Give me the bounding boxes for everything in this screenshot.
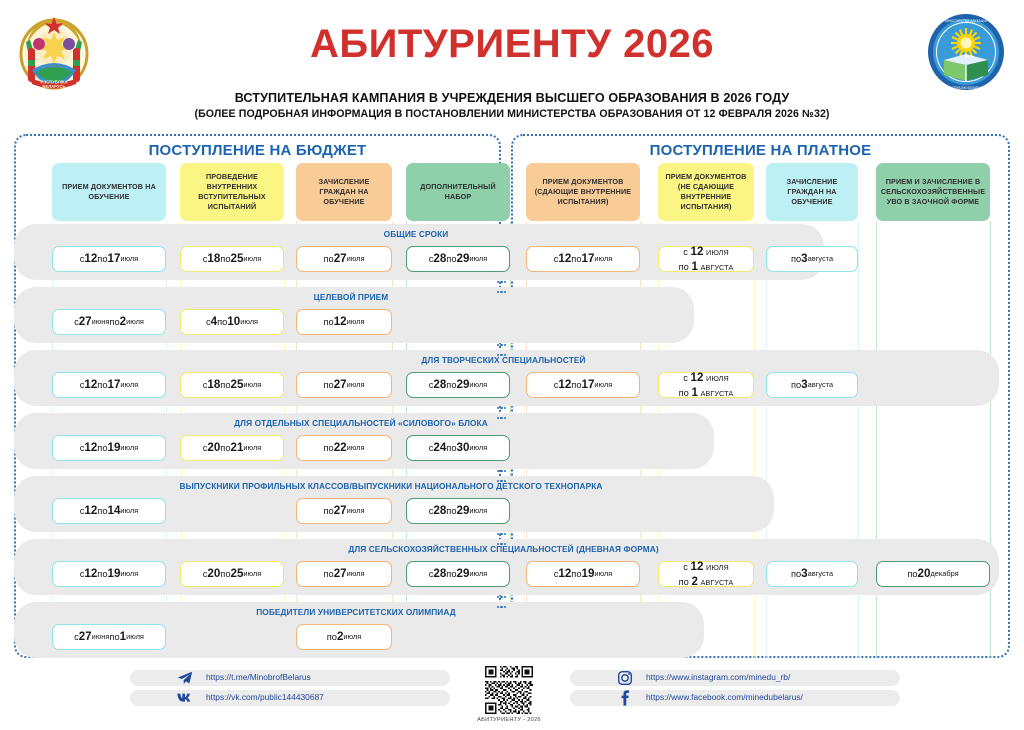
date-chip: с 27 июня по 1 июля [52,624,166,650]
date-chip: по 27 июля [296,246,392,272]
date-chip: по 3 августа [766,246,858,272]
row-separator-dots [497,470,506,482]
svg-text:БЕЛАРУСЬ: БЕЛАРУСЬ [42,84,65,89]
date-chip: с 12 ИЮЛЯпо 2 АВГУСТА [658,561,754,587]
instagram-icon [616,669,634,687]
poster-root: РЭСПУБЛІКА БЕЛАРУСЬ [0,0,1024,730]
link-row-vk[interactable]: https://vk.com/public144430687 [130,690,450,706]
date-chip: с 12 по 17 июля [526,372,640,398]
date-chip: по 27 июля [296,372,392,398]
telegram-link-text: https://t.me/MinobrofBelarus [206,672,311,682]
column-header-5: ПРИЕМ ДОКУМЕНТОВ (НЕ СДАЮЩИЕ ВНУТРЕННИЕ … [658,163,754,221]
date-chip: с 18 по 25 июля [180,246,284,272]
date-chip: с 12 по 19 июля [526,561,640,587]
date-chip: с 12 по 14 июля [52,498,166,524]
row-separator-dots [497,596,506,608]
date-chip: с 12 по 19 июля [52,561,166,587]
date-chip: с 24 по 30 июля [406,435,510,461]
column-guide-7-end [990,221,991,658]
telegram-icon [176,669,194,687]
poster-footer: https://t.me/MinobrofBelarus https://vk.… [0,664,1024,730]
page-title: АБИТУРИЕНТУ 2026 [0,22,1024,67]
svg-text:РЭСПУБЛІКІ БЕЛАРУСЬ: РЭСПУБЛІКІ БЕЛАРУСЬ [947,86,985,90]
date-chip: с 20 по 25 июля [180,561,284,587]
column-header-2: ЗАЧИСЛЕНИЕ ГРАЖДАН НА ОБУЧЕНИЕ [296,163,392,221]
row-label: ВЫПУСКНИКИ ПРОФИЛЬНЫХ КЛАССОВ/ВЫПУСКНИКИ… [14,481,768,491]
date-chip: по 12 июля [296,309,392,335]
link-row-instagram[interactable]: https://www.instagram.com/minedu_rb/ [570,670,900,686]
link-row-facebook[interactable]: https://www.facebook.com/minedubelarus/ [570,690,900,706]
row-label: ДЛЯ ТВОРЧЕСКИХ СПЕЦИАЛЬНОСТЕЙ [14,355,993,365]
subtitle-primary: ВСТУПИТЕЛЬНАЯ КАМПАНИЯ В УЧРЕЖДЕНИЯ ВЫСШ… [0,91,1024,105]
poster-header: РЭСПУБЛІКА БЕЛАРУСЬ [0,0,1024,128]
vk-link-text: https://vk.com/public144430687 [206,692,324,702]
date-chip: с 12 по 17 июля [52,246,166,272]
qr-code[interactable] [485,666,533,714]
row-label: ЦЕЛЕВОЙ ПРИЕМ [14,292,688,302]
date-chip: с 12 ИЮЛЯпо 1 АВГУСТА [658,246,754,272]
column-header-0: ПРИЕМ ДОКУМЕНТОВ НА ОБУЧЕНИЕ [52,163,166,221]
column-header-6: ЗАЧИСЛЕНИЕ ГРАЖДАН НА ОБУЧЕНИЕ [766,163,858,221]
date-chip: с 28 по 29 июля [406,372,510,398]
row-label: ОБЩИЕ СРОКИ [14,229,818,239]
row-separator-dots [497,533,506,545]
subtitle-secondary: (БОЛЕЕ ПОДРОБНАЯ ИНФОРМАЦИЯ В ПОСТАНОВЛЕ… [0,108,1024,120]
facebook-link-text: https://www.facebook.com/minedubelarus/ [646,692,803,702]
date-chip: по 20 декабря [876,561,990,587]
date-chip: с 12 по 17 июля [52,372,166,398]
date-chip: с 12 по 17 июля [526,246,640,272]
date-chip: с 28 по 29 июля [406,498,510,524]
row-label: ПОБЕДИТЕЛИ УНИВЕРСИТЕТСКИХ ОЛИМПИАД [14,607,698,617]
facebook-icon [616,689,634,707]
column-header-7: ПРИЕМ И ЗАЧИСЛЕНИЕ В СЕЛЬСКОХОЗЯЙСТВЕННЫ… [876,163,990,221]
date-chip: по 3 августа [766,372,858,398]
instagram-link-text: https://www.instagram.com/minedu_rb/ [646,672,790,682]
panel-budget-title: ПОСТУПЛЕНИЕ НА БЮДЖЕТ [16,142,499,159]
date-chip: с 28 по 29 июля [406,561,510,587]
panel-paid-title: ПОСТУПЛЕНИЕ НА ПЛАТНОЕ [513,142,1008,159]
date-chip: с 12 по 19 июля [52,435,166,461]
row-separator-dots [497,281,506,293]
row-separator-dots [497,344,506,356]
date-chip: по 27 июля [296,561,392,587]
date-chip: с 4 по 10 июля [180,309,284,335]
date-chip: по 22 июля [296,435,392,461]
row-label: ДЛЯ СЕЛЬСКОХОЗЯЙСТВЕННЫХ СПЕЦИАЛЬНОСТЕЙ … [14,544,993,554]
date-chip: с 27 июня по 2 июля [52,309,166,335]
date-chip: по 27 июля [296,498,392,524]
date-chip: с 12 ИЮЛЯпо 1 АВГУСТА [658,372,754,398]
date-chip: с 18 по 25 июля [180,372,284,398]
row-separator-dots [497,407,506,419]
date-chip: с 20 по 21 июля [180,435,284,461]
column-header-1: ПРОВЕДЕНИЕ ВНУТРЕННИХ ВСТУПИТЕЛЬНЫХ ИСПЫ… [180,163,284,221]
row-label: ДЛЯ ОТДЕЛЬНЫХ СПЕЦИАЛЬНОСТЕЙ «СИЛОВОГО» … [14,418,708,428]
date-chip: по 3 августа [766,561,858,587]
date-chip: по 2 июля [296,624,392,650]
column-header-4: ПРИЕМ ДОКУМЕНТОВ (СДАЮЩИЕ ВНУТРЕННИЕ ИСП… [526,163,640,221]
column-header-3: ДОПОЛНИТЕЛЬНЫЙ НАБОР [406,163,510,221]
qr-caption: АБИТУРИЕНТУ - 2026 [463,717,555,723]
link-row-telegram[interactable]: https://t.me/MinobrofBelarus [130,670,450,686]
date-chip: с 28 по 29 июля [406,246,510,272]
admission-schedule-board: ПОСТУПЛЕНИЕ НА БЮДЖЕТ ПОСТУПЛЕНИЕ НА ПЛА… [14,134,1010,658]
vk-icon [176,689,194,707]
